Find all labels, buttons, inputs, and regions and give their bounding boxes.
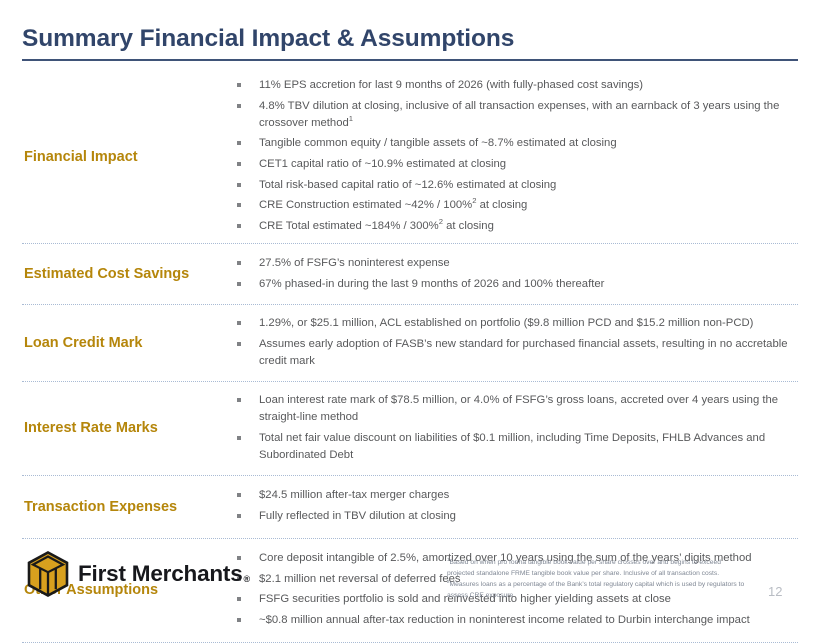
bullet-text: 4.8% TBV dilution at closing, inclusive … bbox=[259, 100, 779, 129]
row-label-cell: Transaction Expenses bbox=[22, 476, 226, 538]
row-label-estimated-cost-savings: Estimated Cost Savings bbox=[24, 266, 189, 283]
bullet-text: Loan interest rate mark of $78.5 million… bbox=[259, 394, 778, 423]
row-label-loan-credit-mark: Loan Credit Mark bbox=[24, 335, 142, 352]
registered-trademark-symbol: ® bbox=[244, 574, 250, 584]
row-body-cell: $24.5 million after-tax merger charges F… bbox=[226, 476, 798, 538]
bullet-list: Loan interest rate mark of $78.5 million… bbox=[226, 392, 798, 464]
bullet-square-icon bbox=[237, 162, 241, 166]
slide-footer: First Merchants® 1Based on when pro form… bbox=[0, 546, 820, 615]
bullet-text: Assumes early adoption of FASB’s new sta… bbox=[259, 338, 788, 367]
bullet-text: Total net fair value discount on liabili… bbox=[259, 432, 765, 461]
bullet-square-icon bbox=[237, 436, 241, 440]
page-title: Summary Financial Impact & Assumptions bbox=[22, 26, 798, 53]
list-item: 27.5% of FSFG’s noninterest expense bbox=[226, 255, 798, 272]
bullet-text: 27.5% of FSFG’s noninterest expense bbox=[259, 257, 450, 269]
bullet-square-icon bbox=[237, 514, 241, 518]
row-label-cell: Estimated Cost Savings bbox=[22, 244, 226, 304]
table-row: Financial Impact 11% EPS accretion for l… bbox=[22, 72, 798, 244]
title-underline-rule bbox=[22, 59, 798, 61]
row-body-cell: Loan interest rate mark of $78.5 million… bbox=[226, 382, 798, 475]
bullet-text: Total risk-based capital ratio of ~12.6%… bbox=[259, 179, 556, 191]
brand-wordmark: First Merchants® bbox=[78, 561, 249, 587]
slide-header: Summary Financial Impact & Assumptions bbox=[22, 26, 798, 61]
bullet-square-icon bbox=[237, 618, 241, 622]
bullet-list: 1.29%, or $25.1 million, ACL established… bbox=[226, 315, 798, 370]
row-label-financial-impact: Financial Impact bbox=[24, 149, 138, 166]
first-merchants-hexagon-logo-icon bbox=[27, 551, 69, 597]
slide-canvas: Summary Financial Impact & Assumptions F… bbox=[0, 0, 820, 615]
list-item: 4.8% TBV dilution at closing, inclusive … bbox=[226, 98, 798, 132]
footnotes: 1Based on when pro forma tangible book v… bbox=[447, 558, 745, 601]
bullet-square-icon bbox=[237, 261, 241, 265]
bullet-square-icon bbox=[237, 493, 241, 497]
bullet-square-icon bbox=[237, 282, 241, 286]
bullet-square-icon bbox=[237, 141, 241, 145]
bullet-text: 1.29%, or $25.1 million, ACL established… bbox=[259, 317, 753, 329]
list-item: CRE Total estimated ~184% / 300%2 at clo… bbox=[226, 218, 798, 235]
bullet-text: $24.5 million after-tax merger charges bbox=[259, 489, 449, 501]
table-row: Transaction Expenses $24.5 million after… bbox=[22, 476, 798, 539]
bullet-square-icon bbox=[237, 398, 241, 402]
list-item: 1.29%, or $25.1 million, ACL established… bbox=[226, 315, 798, 332]
bullet-text: ~$0.8 million annual after-tax reduction… bbox=[259, 614, 750, 626]
list-item: $24.5 million after-tax merger charges bbox=[226, 487, 798, 504]
list-item: Total net fair value discount on liabili… bbox=[226, 430, 798, 464]
list-item: Tangible common equity / tangible assets… bbox=[226, 135, 798, 152]
list-item: 11% EPS accretion for last 9 months of 2… bbox=[226, 77, 798, 94]
row-body-cell: 11% EPS accretion for last 9 months of 2… bbox=[226, 72, 798, 243]
footnote-2: 2Measures loans as a percentage of the B… bbox=[447, 580, 745, 602]
row-label-cell: Interest Rate Marks bbox=[22, 382, 226, 475]
list-item: Total risk-based capital ratio of ~12.6%… bbox=[226, 177, 798, 194]
bullet-list: 27.5% of FSFG’s noninterest expense 67% … bbox=[226, 255, 798, 293]
list-item: CET1 capital ratio of ~10.9% estimated a… bbox=[226, 156, 798, 173]
brand-logo: First Merchants® bbox=[27, 551, 249, 597]
bullet-text: Tangible common equity / tangible assets… bbox=[259, 137, 617, 149]
bullet-square-icon bbox=[237, 342, 241, 346]
list-item: Loan interest rate mark of $78.5 million… bbox=[226, 392, 798, 426]
bullet-text: CET1 capital ratio of ~10.9% estimated a… bbox=[259, 158, 506, 170]
table-row: Estimated Cost Savings 27.5% of FSFG’s n… bbox=[22, 244, 798, 305]
bullet-square-icon bbox=[237, 83, 241, 87]
bullet-text: 67% phased-in during the last 9 months o… bbox=[259, 278, 604, 290]
list-item: Assumes early adoption of FASB’s new sta… bbox=[226, 336, 798, 370]
row-body-cell: 1.29%, or $25.1 million, ACL established… bbox=[226, 305, 798, 381]
bullet-square-icon bbox=[237, 104, 241, 108]
footnote-1: 1Based on when pro forma tangible book v… bbox=[447, 558, 745, 580]
bullet-text: CRE Total estimated ~184% / 300%2 at clo… bbox=[259, 220, 494, 232]
footnote-ref-1: 1 bbox=[349, 114, 353, 123]
footnote-ref-2: 2 bbox=[439, 217, 443, 226]
row-body-cell: 27.5% of FSFG’s noninterest expense 67% … bbox=[226, 244, 798, 304]
bullet-square-icon bbox=[237, 224, 241, 228]
brand-wordmark-text: First Merchants bbox=[78, 561, 243, 586]
bullet-list: 11% EPS accretion for last 9 months of 2… bbox=[226, 77, 798, 235]
footnote-ref-2: 2 bbox=[472, 197, 476, 206]
list-item: Fully reflected in TBV dilution at closi… bbox=[226, 508, 798, 525]
bullet-square-icon bbox=[237, 203, 241, 207]
row-label-cell: Loan Credit Mark bbox=[22, 305, 226, 381]
bullet-text: 11% EPS accretion for last 9 months of 2… bbox=[259, 79, 643, 91]
row-label-cell: Financial Impact bbox=[22, 72, 226, 243]
bullet-square-icon bbox=[237, 183, 241, 187]
bullet-square-icon bbox=[237, 321, 241, 325]
row-label-interest-rate-marks: Interest Rate Marks bbox=[24, 420, 158, 437]
bullet-text: CRE Construction estimated ~42% / 100%2 … bbox=[259, 199, 527, 211]
row-label-transaction-expenses: Transaction Expenses bbox=[24, 499, 177, 516]
page-number: 12 bbox=[768, 584, 782, 599]
bullet-text: Fully reflected in TBV dilution at closi… bbox=[259, 510, 456, 522]
list-item: 67% phased-in during the last 9 months o… bbox=[226, 276, 798, 293]
bullet-list: $24.5 million after-tax merger charges F… bbox=[226, 487, 798, 525]
table-row: Interest Rate Marks Loan interest rate m… bbox=[22, 382, 798, 476]
list-item: CRE Construction estimated ~42% / 100%2 … bbox=[226, 197, 798, 214]
table-row: Loan Credit Mark 1.29%, or $25.1 million… bbox=[22, 305, 798, 382]
